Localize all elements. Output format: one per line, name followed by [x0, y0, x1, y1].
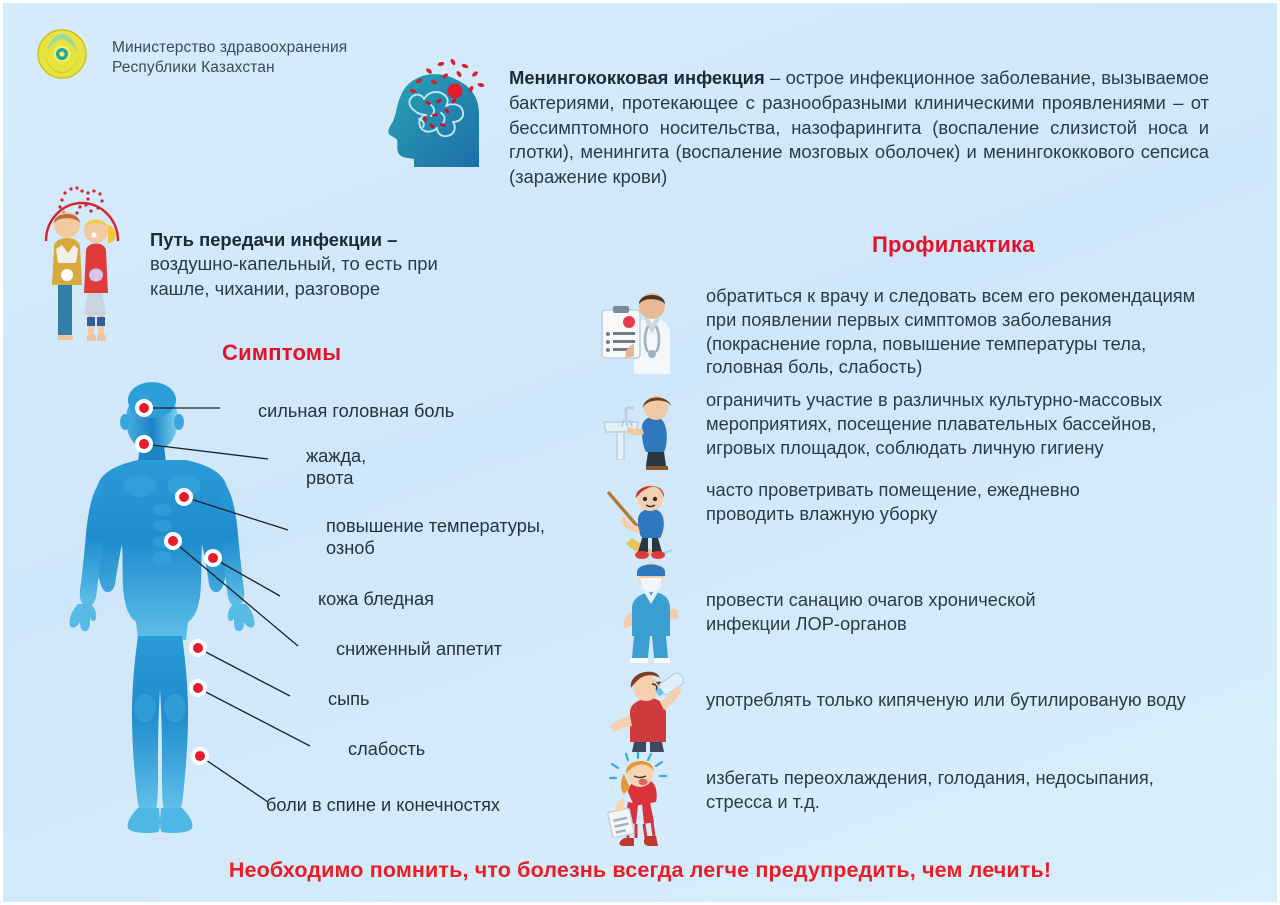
prevention-item-sanitize-ent: провести санацию очагов хронической инфе… — [598, 556, 1258, 666]
prevention-title: Профилактика — [872, 232, 1035, 258]
prevention-item-boiled-water: употреблять только кипяченую или бутилир… — [598, 666, 1258, 756]
symptom-label-fever-chills: повышение температуры, озноб — [326, 515, 545, 559]
symptom-label-low-appetite: сниженный аппетит — [336, 638, 502, 660]
poster-canvas: Министерство здравоохранения Республики … — [0, 0, 1280, 905]
symptoms-diagram: сильная головная боль жажда, рвота повыш… — [40, 378, 600, 848]
prevention-text-limit-events: ограничить участие в различных культурно… — [706, 388, 1162, 459]
family-coughing-illustration — [22, 163, 142, 343]
boy-mopping-floor-icon — [598, 478, 686, 567]
boy-drinking-bottled-water-icon — [598, 666, 686, 759]
boy-washing-hands-icon — [598, 388, 686, 477]
symptom-label-thirst-vomiting: жажда, рвота — [306, 445, 366, 489]
prevention-item-see-doctor: обратиться к врачу и следовать всем его … — [598, 282, 1258, 382]
transmission-paragraph: Путь передачи инфекции – воздушно-капель… — [150, 228, 480, 301]
intro-paragraph: Менингококковая инфекция – острое инфекц… — [509, 66, 1209, 190]
head-brain-meningococcus-illustration — [383, 55, 501, 167]
prevention-text-avoid-stress: избегать переохлаждения, голодания, недо… — [706, 766, 1154, 814]
prevention-item-avoid-stress: избегать переохлаждения, голодания, недо… — [598, 752, 1258, 848]
footer-slogan: Необходимо помнить, что болезнь всегда л… — [0, 858, 1280, 883]
kazakhstan-emblem-icon — [36, 28, 88, 80]
symptoms-title: Симптомы — [222, 340, 341, 366]
girl-sneezing-cold-icon — [598, 752, 686, 851]
symptom-label-pale-skin: кожа бледная — [318, 588, 434, 610]
transmission-body: воздушно-капельный, то есть при кашле, ч… — [150, 253, 438, 298]
prevention-text-sanitize-ent: провести санацию очагов хронической инфе… — [706, 588, 1036, 636]
intro-term: Менингококковая инфекция — [509, 67, 765, 88]
prevention-item-limit-events: ограничить участие в различных культурно… — [598, 388, 1258, 478]
ministry-title: Министерство здравоохранения Республики … — [112, 38, 347, 78]
symptom-label-headache: сильная головная боль — [258, 400, 454, 422]
prevention-text-ventilate-clean: часто проветривать помещение, ежедневно … — [706, 478, 1080, 526]
prevention-text-boiled-water: употреблять только кипяченую или бутилир… — [706, 688, 1186, 712]
surgeon-in-mask-icon — [598, 556, 686, 671]
transmission-term: Путь передачи инфекции – — [150, 229, 397, 250]
symptom-label-rash: сыпь — [328, 688, 370, 710]
symptom-label-back-limb-pain: боли в спине и конечностях — [266, 794, 500, 816]
prevention-item-ventilate-clean: часто проветривать помещение, ежедневно … — [598, 478, 1258, 558]
symptom-label-weakness: слабость — [348, 738, 425, 760]
doctor-with-clipboard-icon — [598, 282, 686, 383]
prevention-text-see-doctor: обратиться к врачу и следовать всем его … — [706, 284, 1195, 379]
